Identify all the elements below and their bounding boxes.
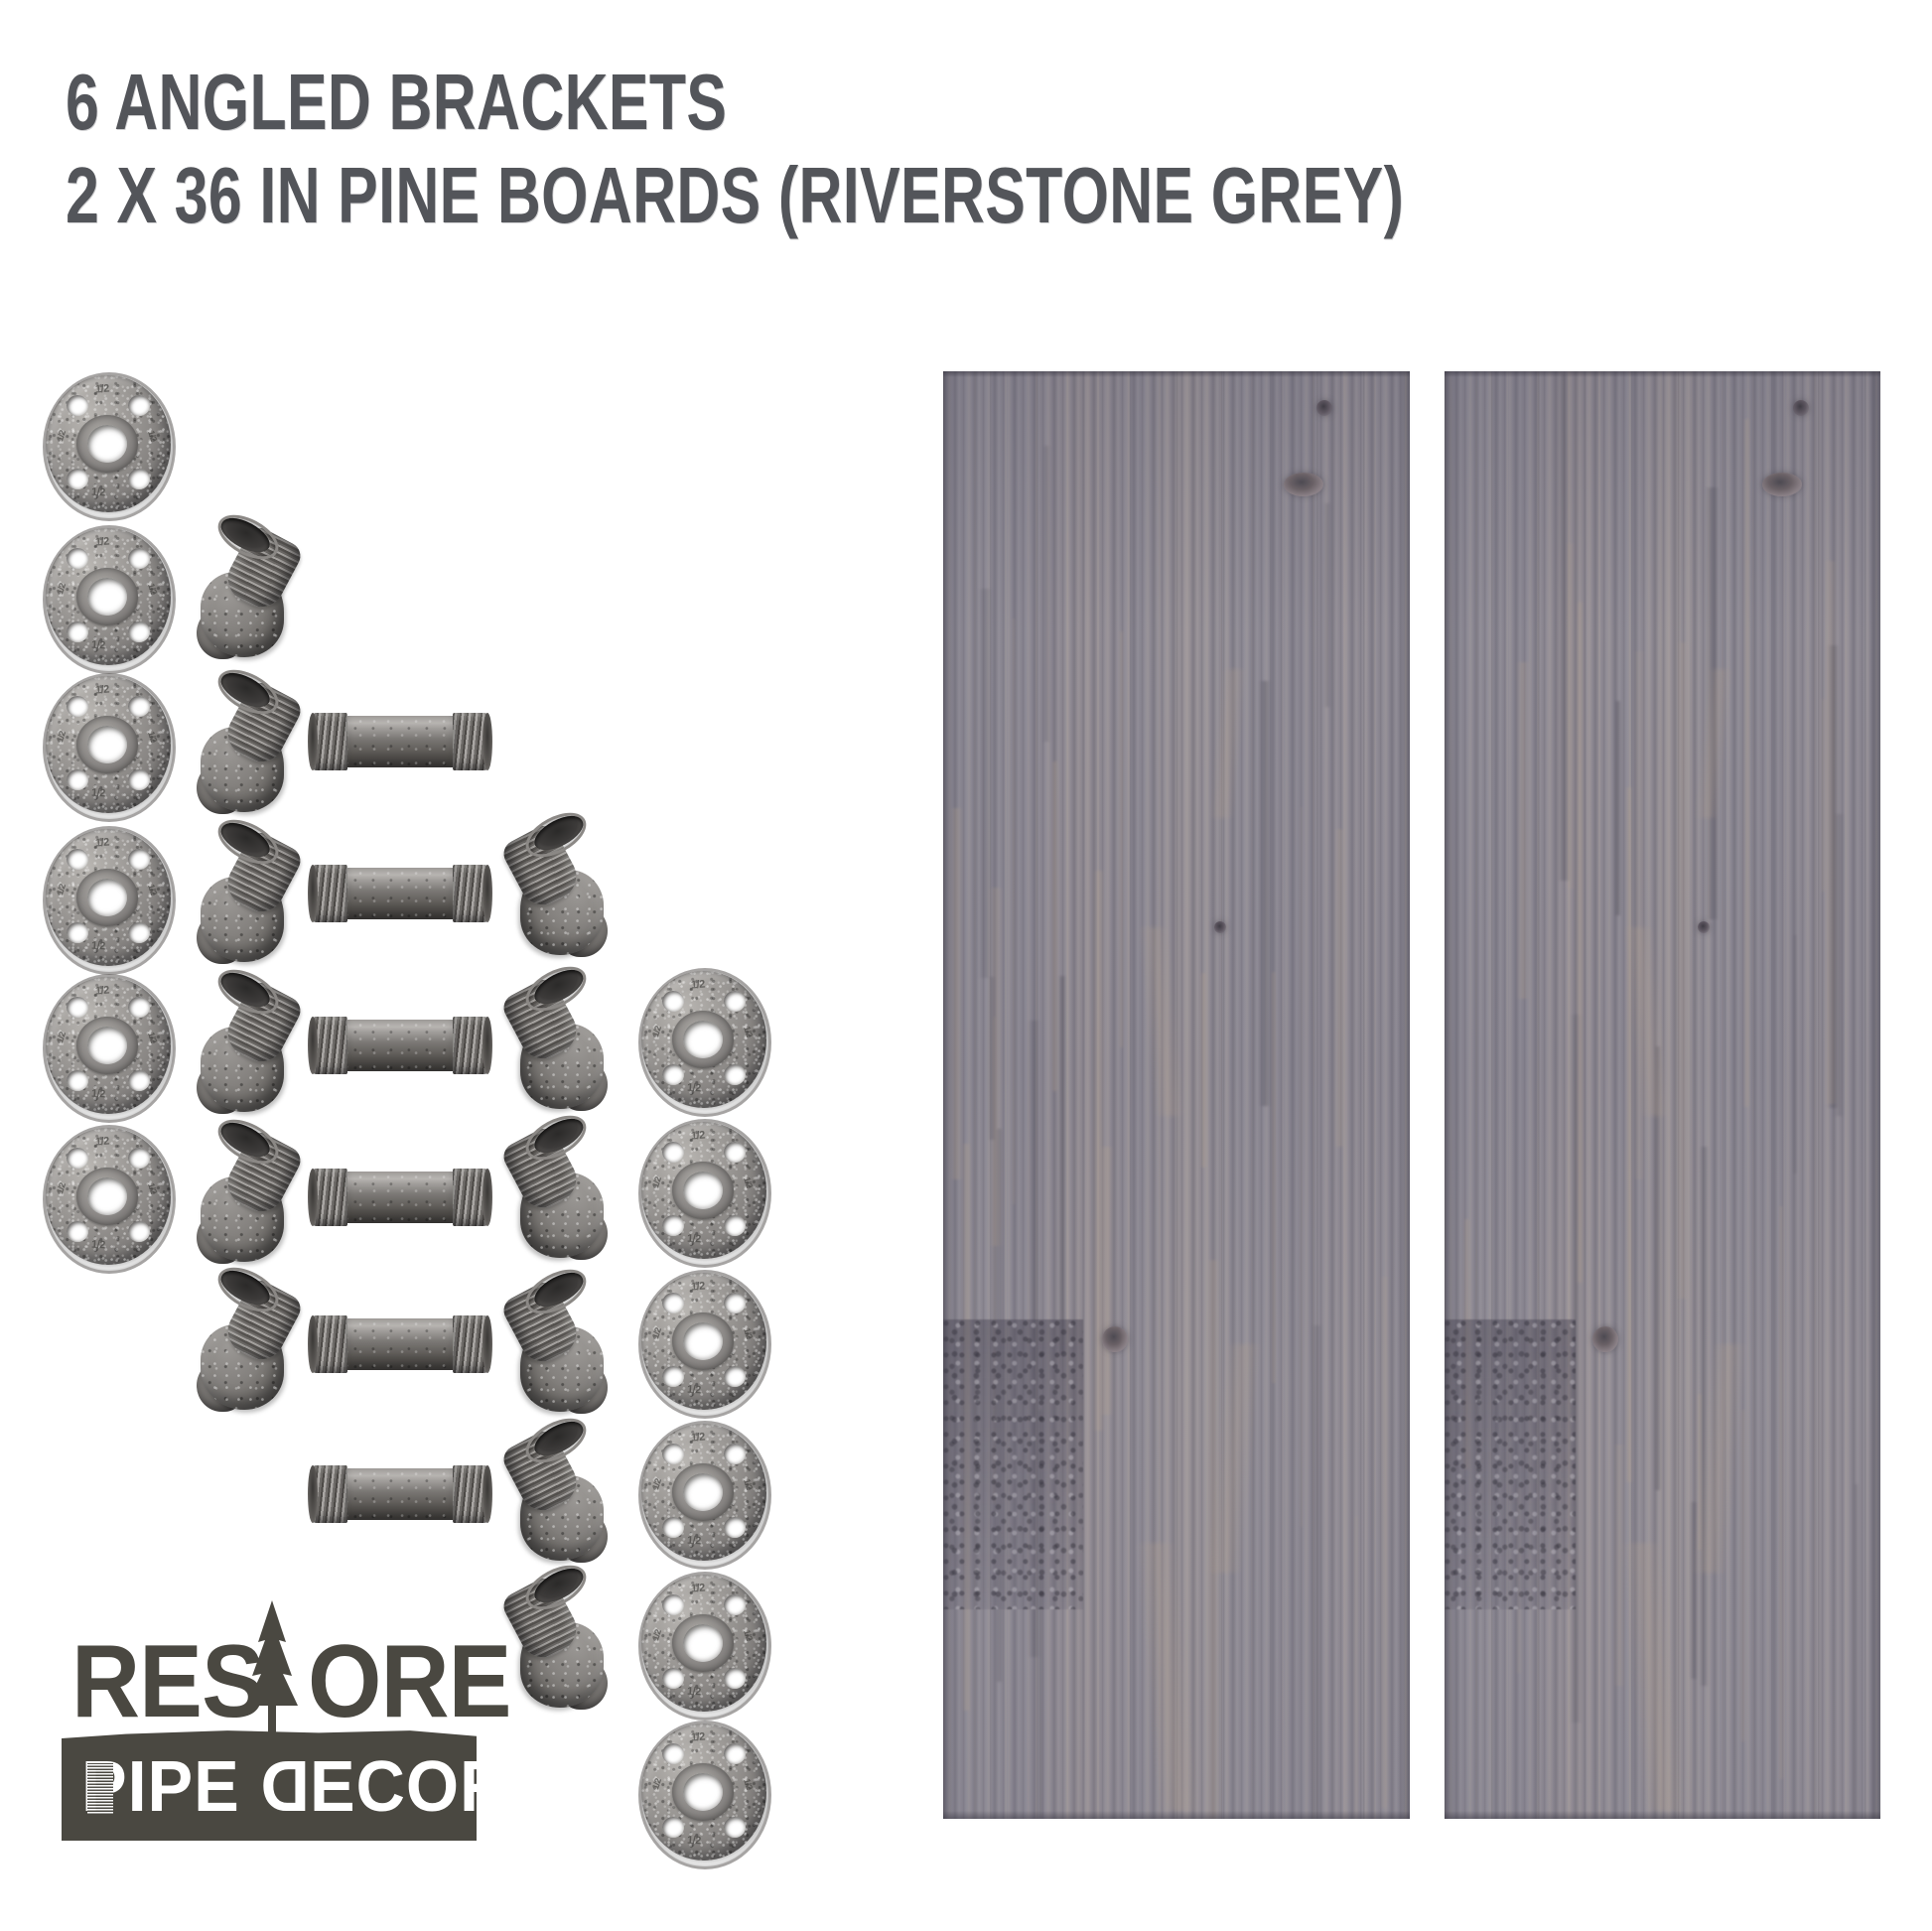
board-grain-streak — [988, 977, 996, 1140]
flange-size-marking: 1/2 — [91, 639, 105, 652]
board-grain-streak — [1300, 807, 1304, 1527]
board-grain-streak — [1824, 561, 1838, 1104]
flange-bolt-hole — [724, 1444, 746, 1464]
flange-bolt-hole — [128, 1148, 150, 1169]
board-knot — [1592, 1326, 1618, 1352]
board-knot — [1698, 921, 1710, 933]
flange-center-bore — [87, 425, 127, 463]
flange-bolt-hole — [67, 1148, 88, 1169]
board-grain-streak — [1012, 619, 1016, 1204]
logo-mirrored-d: D — [260, 1751, 310, 1823]
pipe-flange: 1/21/21/21/2 — [639, 1569, 768, 1718]
flange-bolt-hole — [67, 395, 88, 416]
flange-bolt-hole — [662, 1594, 684, 1615]
pipe-flange: 1/21/21/21/2 — [44, 670, 173, 819]
flange-size-marking: 1/2 — [687, 1535, 701, 1548]
flange-size-marking: 1/2 — [95, 837, 110, 850]
title-line-1: 6 ANGLED BRACKETS — [66, 56, 1197, 149]
board-edge-shadow — [1398, 371, 1410, 1819]
board-grain-streak — [1779, 1206, 1783, 1779]
flange-center-bore — [683, 1624, 723, 1662]
flange-center-bore — [683, 1473, 723, 1511]
board-grain-streak — [1311, 1325, 1322, 1819]
pipe-flange: 1/21/21/21/2 — [44, 1122, 173, 1271]
bracket-row: 1/21/21/21/21/21/21/21/2 — [44, 671, 778, 820]
flange-bolt-hole — [724, 1594, 746, 1615]
flange-bolt-hole — [662, 1817, 684, 1838]
pipe-flange: 1/21/21/21/2 — [639, 1267, 768, 1416]
board-grain-streak — [1042, 446, 1050, 742]
board-grain-streak — [1677, 642, 1689, 1299]
flange-size-marking: 1/2 — [687, 1686, 701, 1699]
bracket-row: 1/21/21/21/21/21/21/21/2 — [44, 520, 778, 669]
board-grain-streak — [1099, 1147, 1114, 1415]
flange-center-bore — [87, 1177, 127, 1215]
nipple-texture — [344, 1318, 457, 1370]
flange-bolt-hole — [128, 548, 150, 569]
flange-bolt-hole — [662, 1668, 684, 1689]
flange-bolt-hole — [724, 1743, 746, 1764]
flange-bolt-hole — [128, 395, 150, 416]
nipple-end-left — [308, 1465, 318, 1523]
flange-bolt-hole — [67, 696, 88, 717]
flange-bolt-hole — [67, 997, 88, 1018]
flange-size-marking: 1/2 — [687, 1835, 701, 1848]
board-knot — [1284, 473, 1323, 496]
pipe-flange: 1/21/21/21/2 — [639, 1718, 768, 1866]
logo-restore-right: ORE — [308, 1630, 511, 1733]
bracket-row: 1/21/21/21/21/21/21/21/2 — [44, 973, 778, 1122]
board-grain-streak — [1739, 1410, 1747, 1741]
flange-center-bore — [87, 879, 127, 916]
board-knot — [1316, 400, 1332, 416]
flange-center-bore — [87, 578, 127, 616]
nipple-barrel — [344, 1468, 457, 1520]
wood-boards-group — [943, 371, 1880, 1819]
logo-restore-word: RES ORE — [71, 1626, 469, 1743]
board-edge-shadow — [1445, 371, 1880, 377]
nipple-end-left — [308, 1315, 318, 1373]
board-edge-shadow — [1445, 1811, 1880, 1819]
board-grain-streak — [1516, 662, 1530, 999]
flange-bolt-hole — [67, 1221, 88, 1242]
hardware-grid: 1/21/21/21/21/21/21/21/21/21/21/21/21/21… — [44, 369, 778, 1253]
board-grain-streak — [1058, 976, 1066, 1354]
board-grain-streak — [1323, 503, 1331, 707]
title-line-2: 2 X 36 IN PINE BOARDS (RIVERSTONE GREY) — [66, 149, 1197, 242]
flange-size-marking: 1/2 — [95, 383, 110, 396]
flange-center-bore — [683, 1322, 723, 1360]
flange-size-marking: 1/2 — [91, 1239, 105, 1252]
bracket-row: 1/21/21/21/21/21/21/21/2 — [44, 822, 778, 971]
flange-bolt-hole — [128, 849, 150, 870]
board-grain-streak — [1380, 1277, 1389, 1808]
board-grain-streak — [1271, 972, 1277, 1383]
flange-bolt-hole — [128, 696, 150, 717]
pipe-elbow-right — [502, 1420, 621, 1569]
nipple-texture — [344, 1468, 457, 1520]
pipe-flange: 1/21/21/21/2 — [44, 522, 173, 671]
board-grain-streak — [1577, 602, 1584, 1283]
flange-bolt-hole — [724, 1366, 746, 1387]
pipe-elbow-right — [502, 1271, 621, 1420]
pipe-nipple — [310, 1269, 490, 1418]
flange-bolt-hole — [128, 769, 150, 790]
flange-bolt-hole — [662, 1743, 684, 1764]
board-edge-shadow — [1445, 371, 1454, 1819]
board-grain-streak — [1558, 374, 1571, 881]
flange-bolt-hole — [67, 621, 88, 642]
board-knot — [1102, 1326, 1128, 1352]
pipe-elbow-right — [502, 1567, 621, 1716]
board-knot — [1793, 400, 1809, 416]
board-edge-shadow — [943, 371, 953, 1819]
flange-bolt-hole — [67, 1070, 88, 1091]
board-rough-patch — [943, 1319, 1083, 1609]
board-grain-streak — [1743, 419, 1750, 1107]
flange-size-marking: 1/2 — [91, 486, 105, 499]
flange-size-marking: 1/2 — [95, 1136, 110, 1149]
flange-bolt-hole — [128, 1070, 150, 1091]
pipe-elbow-left — [183, 1269, 302, 1418]
board-grain-streak — [1614, 701, 1621, 915]
pipe-flange: 1/21/21/21/2 — [44, 369, 173, 518]
flange-bolt-hole — [67, 922, 88, 943]
board-grain-streak — [1051, 761, 1058, 1091]
flange-bolt-hole — [662, 1517, 684, 1538]
flange-bolt-hole — [67, 548, 88, 569]
flange-size-marking: 1/2 — [95, 985, 110, 998]
flange-bolt-hole — [67, 849, 88, 870]
nipple-barrel — [344, 1318, 457, 1370]
board-grain-streak — [1119, 631, 1124, 1047]
pipe-flange: 1/21/21/21/2 — [44, 823, 173, 972]
flange-center-bore — [87, 726, 127, 763]
board-grain-streak — [1793, 935, 1797, 1173]
flange-size-marking: 1/2 — [91, 787, 105, 800]
flange-bolt-hole — [128, 997, 150, 1018]
flange-bolt-hole — [724, 1293, 746, 1313]
flange-size-marking: 1/2 — [691, 1731, 706, 1744]
flange-bolt-hole — [662, 1366, 684, 1387]
nipple-end-right — [483, 1465, 492, 1523]
board-rough-patch — [1445, 1319, 1576, 1609]
board-grain-streak — [1200, 973, 1207, 1168]
flange-size-marking: 1/2 — [95, 536, 110, 549]
board-edge-shadow — [943, 371, 1410, 377]
flange-bolt-hole — [724, 1517, 746, 1538]
flange-size-marking: 1/2 — [687, 1384, 701, 1397]
flange-center-bore — [87, 1027, 127, 1064]
flange-size-marking: 1/2 — [91, 940, 105, 953]
bracket-row: 1/21/21/21/21/21/21/21/2 — [44, 1122, 778, 1271]
board-edge-shadow — [943, 1811, 1410, 1819]
flange-size-marking: 1/2 — [91, 1088, 105, 1101]
board-grain-streak — [1334, 829, 1345, 1147]
board-grain-streak — [978, 589, 993, 978]
logo-ecor-text: ECOR — [310, 1747, 509, 1827]
pine-board-left — [943, 371, 1410, 1819]
page-title: 6 ANGLED BRACKETS 2 X 36 IN PINE BOARDS … — [66, 56, 1555, 242]
board-grain-streak — [1354, 1516, 1358, 1819]
logo-bottom-bar: PIPE DECOR — [62, 1729, 477, 1841]
board-edge-shadow — [1868, 371, 1880, 1819]
pipe-flange: 1/21/21/21/2 — [639, 1418, 768, 1567]
flange-size-marking: 1/2 — [691, 1432, 706, 1445]
flange-bolt-hole — [724, 1668, 746, 1689]
logo-pipe-decor-word: PIPE DECOR — [81, 1751, 509, 1823]
product-image-canvas: 6 ANGLED BRACKETS 2 X 36 IN PINE BOARDS … — [0, 0, 1932, 1931]
pine-board-right — [1445, 371, 1880, 1819]
board-grain-streak — [1854, 1484, 1859, 1819]
flange-center-bore — [683, 1773, 723, 1811]
board-grain-streak — [1259, 681, 1271, 1106]
flange-bolt-hole — [128, 1221, 150, 1242]
flange-bolt-hole — [128, 922, 150, 943]
flange-size-marking: 1/2 — [95, 684, 110, 697]
logo-restore-left: RES — [71, 1630, 264, 1733]
board-knot — [1214, 921, 1226, 933]
nipple-end-right — [483, 1315, 492, 1373]
pipe-nipple — [310, 1419, 490, 1568]
pine-tree-icon — [242, 1598, 302, 1745]
flange-bolt-hole — [67, 769, 88, 790]
flange-bolt-hole — [662, 1293, 684, 1313]
pipe-flange: 1/21/21/21/2 — [44, 971, 173, 1120]
brand-logo: RES ORE PIPE DECOR — [62, 1626, 479, 1874]
flange-bolt-hole — [662, 1444, 684, 1464]
flange-bolt-hole — [724, 1817, 746, 1838]
flange-size-marking: 1/2 — [691, 1583, 706, 1595]
flange-bolt-hole — [128, 621, 150, 642]
board-knot — [1762, 473, 1802, 496]
flange-bolt-hole — [67, 469, 88, 489]
flange-size-marking: 1/2 — [691, 1281, 706, 1294]
flange-bolt-hole — [128, 469, 150, 489]
logo-pipe-thread-icon — [87, 1763, 113, 1815]
bracket-row: 1/21/21/21/21/21/21/21/2 — [44, 369, 778, 518]
